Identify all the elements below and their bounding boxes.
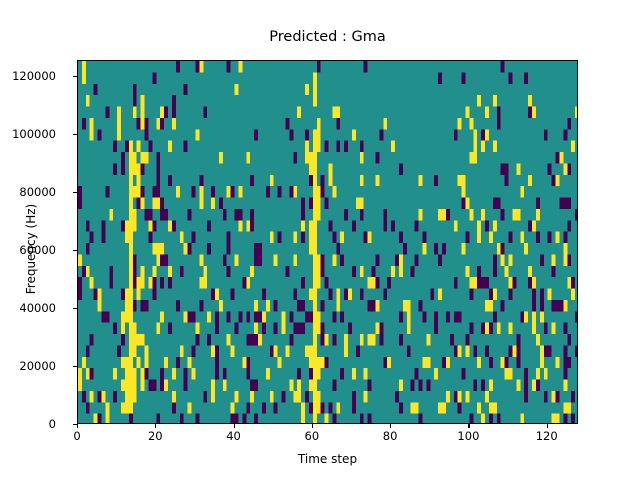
x-tick-label: 20: [148, 429, 163, 443]
y-tick-mark: [73, 134, 77, 135]
matplotlib-figure: Predicted : Gma 020000400006000080000100…: [0, 0, 640, 480]
y-tick-label: 20000: [0, 359, 56, 373]
y-axis-label: Frequency (Hz): [24, 139, 38, 359]
x-tick-mark: [390, 424, 391, 428]
heatmap-axes: [77, 60, 578, 424]
chart-title: Predicted : Gma: [77, 29, 578, 45]
x-tick-mark: [547, 424, 548, 428]
y-tick-mark: [73, 76, 77, 77]
x-tick-mark: [312, 424, 313, 428]
x-axis-label: Time step: [77, 452, 578, 466]
y-tick-label: 0: [0, 417, 56, 431]
x-tick-label: 80: [383, 429, 398, 443]
x-tick-label: 120: [536, 429, 558, 443]
heatmap-image: [78, 61, 578, 424]
x-tick-mark: [234, 424, 235, 428]
y-tick-mark: [73, 192, 77, 193]
y-tick-mark: [73, 308, 77, 309]
x-tick-label: 0: [73, 429, 80, 443]
x-tick-label: 40: [226, 429, 241, 443]
x-tick-label: 60: [305, 429, 320, 443]
x-tick-label: 100: [457, 429, 479, 443]
y-tick-mark: [73, 366, 77, 367]
y-tick-mark: [73, 250, 77, 251]
y-tick-label: 120000: [0, 69, 56, 83]
x-tick-mark: [468, 424, 469, 428]
x-tick-mark: [155, 424, 156, 428]
x-tick-mark: [77, 424, 78, 428]
